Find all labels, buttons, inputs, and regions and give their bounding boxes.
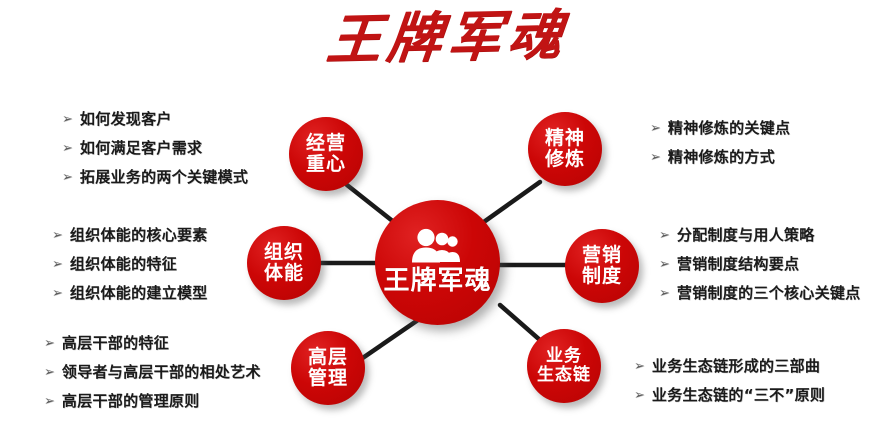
bullet-group-top-left: ➢ 如何发现客户 ➢ 如何满足客户需求 ➢ 拓展业务的两个关键模式 bbox=[62, 112, 248, 199]
list-item-label: 业务生态链形成的三部曲 bbox=[652, 359, 820, 374]
list-item-label: 拓展业务的两个关键模式 bbox=[80, 170, 248, 185]
list-item: ➢ 如何发现客户 bbox=[62, 112, 248, 128]
list-item: ➢ 组织体能的核心要素 bbox=[52, 228, 208, 244]
node-label-line: 重心 bbox=[306, 154, 346, 175]
node-label-line: 业务 bbox=[546, 347, 582, 366]
bullet-group-bottom-right: ➢ 业务生态链形成的三部曲 ➢ 业务生态链的“三不”原则 bbox=[634, 359, 825, 417]
list-item: ➢ 营销制度的三个核心关键点 bbox=[659, 286, 861, 302]
node-gaoceng-guanli[interactable]: 高层 管理 bbox=[291, 331, 365, 405]
arrow-bullet-icon: ➢ bbox=[650, 150, 661, 166]
list-item-label: 组织体能的建立模型 bbox=[70, 286, 208, 301]
bullet-group-middle-right: ➢ 分配制度与用人策略 ➢ 营销制度结构要点 ➢ 营销制度的三个核心关键点 bbox=[659, 228, 861, 315]
bullet-group-bottom-left: ➢ 高层干部的特征 ➢ 领导者与高层干部的相处艺术 ➢ 高层干部的管理原则 bbox=[44, 336, 261, 423]
list-item-label: 营销制度结构要点 bbox=[677, 257, 799, 272]
node-yewu-shengtailian[interactable]: 业务 生态链 bbox=[527, 329, 601, 403]
arrow-bullet-icon: ➢ bbox=[659, 257, 670, 273]
list-item: ➢ 营销制度结构要点 bbox=[659, 257, 861, 273]
node-label-line: 制度 bbox=[582, 266, 622, 287]
arrow-bullet-icon: ➢ bbox=[634, 359, 645, 375]
list-item-label: 业务生态链的“三不”原则 bbox=[652, 388, 825, 403]
arrow-bullet-icon: ➢ bbox=[62, 170, 73, 186]
arrow-bullet-icon: ➢ bbox=[634, 388, 645, 404]
list-item-label: 如何满足客户需求 bbox=[80, 141, 202, 156]
arrow-bullet-icon: ➢ bbox=[52, 257, 63, 273]
arrow-bullet-icon: ➢ bbox=[659, 228, 670, 244]
list-item: ➢ 组织体能的特征 bbox=[52, 257, 208, 273]
node-yingxiao-zhidu[interactable]: 营销 制度 bbox=[565, 229, 639, 303]
list-item-label: 精神修炼的关键点 bbox=[668, 121, 790, 136]
bullet-group-middle-left: ➢ 组织体能的核心要素 ➢ 组织体能的特征 ➢ 组织体能的建立模型 bbox=[52, 228, 208, 315]
list-item: ➢ 领导者与高层干部的相处艺术 bbox=[44, 365, 261, 381]
list-item: ➢ 分配制度与用人策略 bbox=[659, 228, 861, 244]
arrow-bullet-icon: ➢ bbox=[52, 228, 63, 244]
list-item-label: 营销制度的三个核心关键点 bbox=[677, 286, 861, 301]
arrow-bullet-icon: ➢ bbox=[659, 286, 670, 302]
list-item-label: 如何发现客户 bbox=[80, 112, 172, 127]
arrow-bullet-icon: ➢ bbox=[44, 336, 55, 352]
list-item-label: 高层干部的特征 bbox=[62, 336, 169, 351]
list-item-label: 精神修炼的方式 bbox=[668, 150, 775, 165]
list-item-label: 领导者与高层干部的相处艺术 bbox=[62, 365, 261, 380]
node-label-line: 体能 bbox=[264, 263, 304, 284]
list-item: ➢ 业务生态链形成的三部曲 bbox=[634, 359, 825, 375]
node-label-line: 组织 bbox=[264, 242, 304, 263]
node-label-line: 生态链 bbox=[537, 366, 591, 385]
slide-canvas: 王牌军魂 经营 重心 精神 修炼 组织 体能 营销 制度 高层 管理 业务 生态… bbox=[0, 0, 895, 428]
list-item: ➢ 业务生态链的“三不”原则 bbox=[634, 388, 825, 404]
arrow-bullet-icon: ➢ bbox=[62, 141, 73, 157]
list-item: ➢ 精神修炼的关键点 bbox=[650, 121, 790, 137]
list-item: ➢ 如何满足客户需求 bbox=[62, 141, 248, 157]
list-item-label: 组织体能的特征 bbox=[70, 257, 177, 272]
node-label-line: 修炼 bbox=[545, 149, 585, 170]
node-zuzhi-tineng[interactable]: 组织 体能 bbox=[247, 226, 321, 300]
list-item-label: 组织体能的核心要素 bbox=[70, 228, 208, 243]
node-jingying-zhongxin[interactable]: 经营 重心 bbox=[289, 117, 363, 191]
node-label-line: 精神 bbox=[545, 128, 585, 149]
list-item: ➢ 拓展业务的两个关键模式 bbox=[62, 170, 248, 186]
arrow-bullet-icon: ➢ bbox=[44, 365, 55, 381]
list-item-label: 高层干部的管理原则 bbox=[62, 394, 200, 409]
list-item: ➢ 组织体能的建立模型 bbox=[52, 286, 208, 302]
node-jingshen-xiulian[interactable]: 精神 修炼 bbox=[528, 112, 602, 186]
hub-node-wangpai-junhun[interactable]: 王牌军魂 bbox=[375, 200, 500, 325]
hub-label: 王牌军魂 bbox=[383, 267, 491, 296]
list-item-label: 分配制度与用人策略 bbox=[677, 228, 815, 243]
arrow-bullet-icon: ➢ bbox=[650, 121, 661, 137]
node-label-line: 管理 bbox=[308, 368, 348, 389]
node-label-line: 经营 bbox=[306, 133, 346, 154]
list-item: ➢ 高层干部的特征 bbox=[44, 336, 261, 352]
arrow-bullet-icon: ➢ bbox=[52, 286, 63, 302]
bullet-group-top-right: ➢ 精神修炼的关键点 ➢ 精神修炼的方式 bbox=[650, 121, 790, 179]
three-people-icon bbox=[405, 228, 471, 264]
list-item: ➢ 高层干部的管理原则 bbox=[44, 394, 261, 410]
node-label-line: 营销 bbox=[582, 245, 622, 266]
arrow-bullet-icon: ➢ bbox=[62, 112, 73, 128]
list-item: ➢ 精神修炼的方式 bbox=[650, 150, 790, 166]
arrow-bullet-icon: ➢ bbox=[44, 394, 55, 410]
node-label-line: 高层 bbox=[308, 347, 348, 368]
